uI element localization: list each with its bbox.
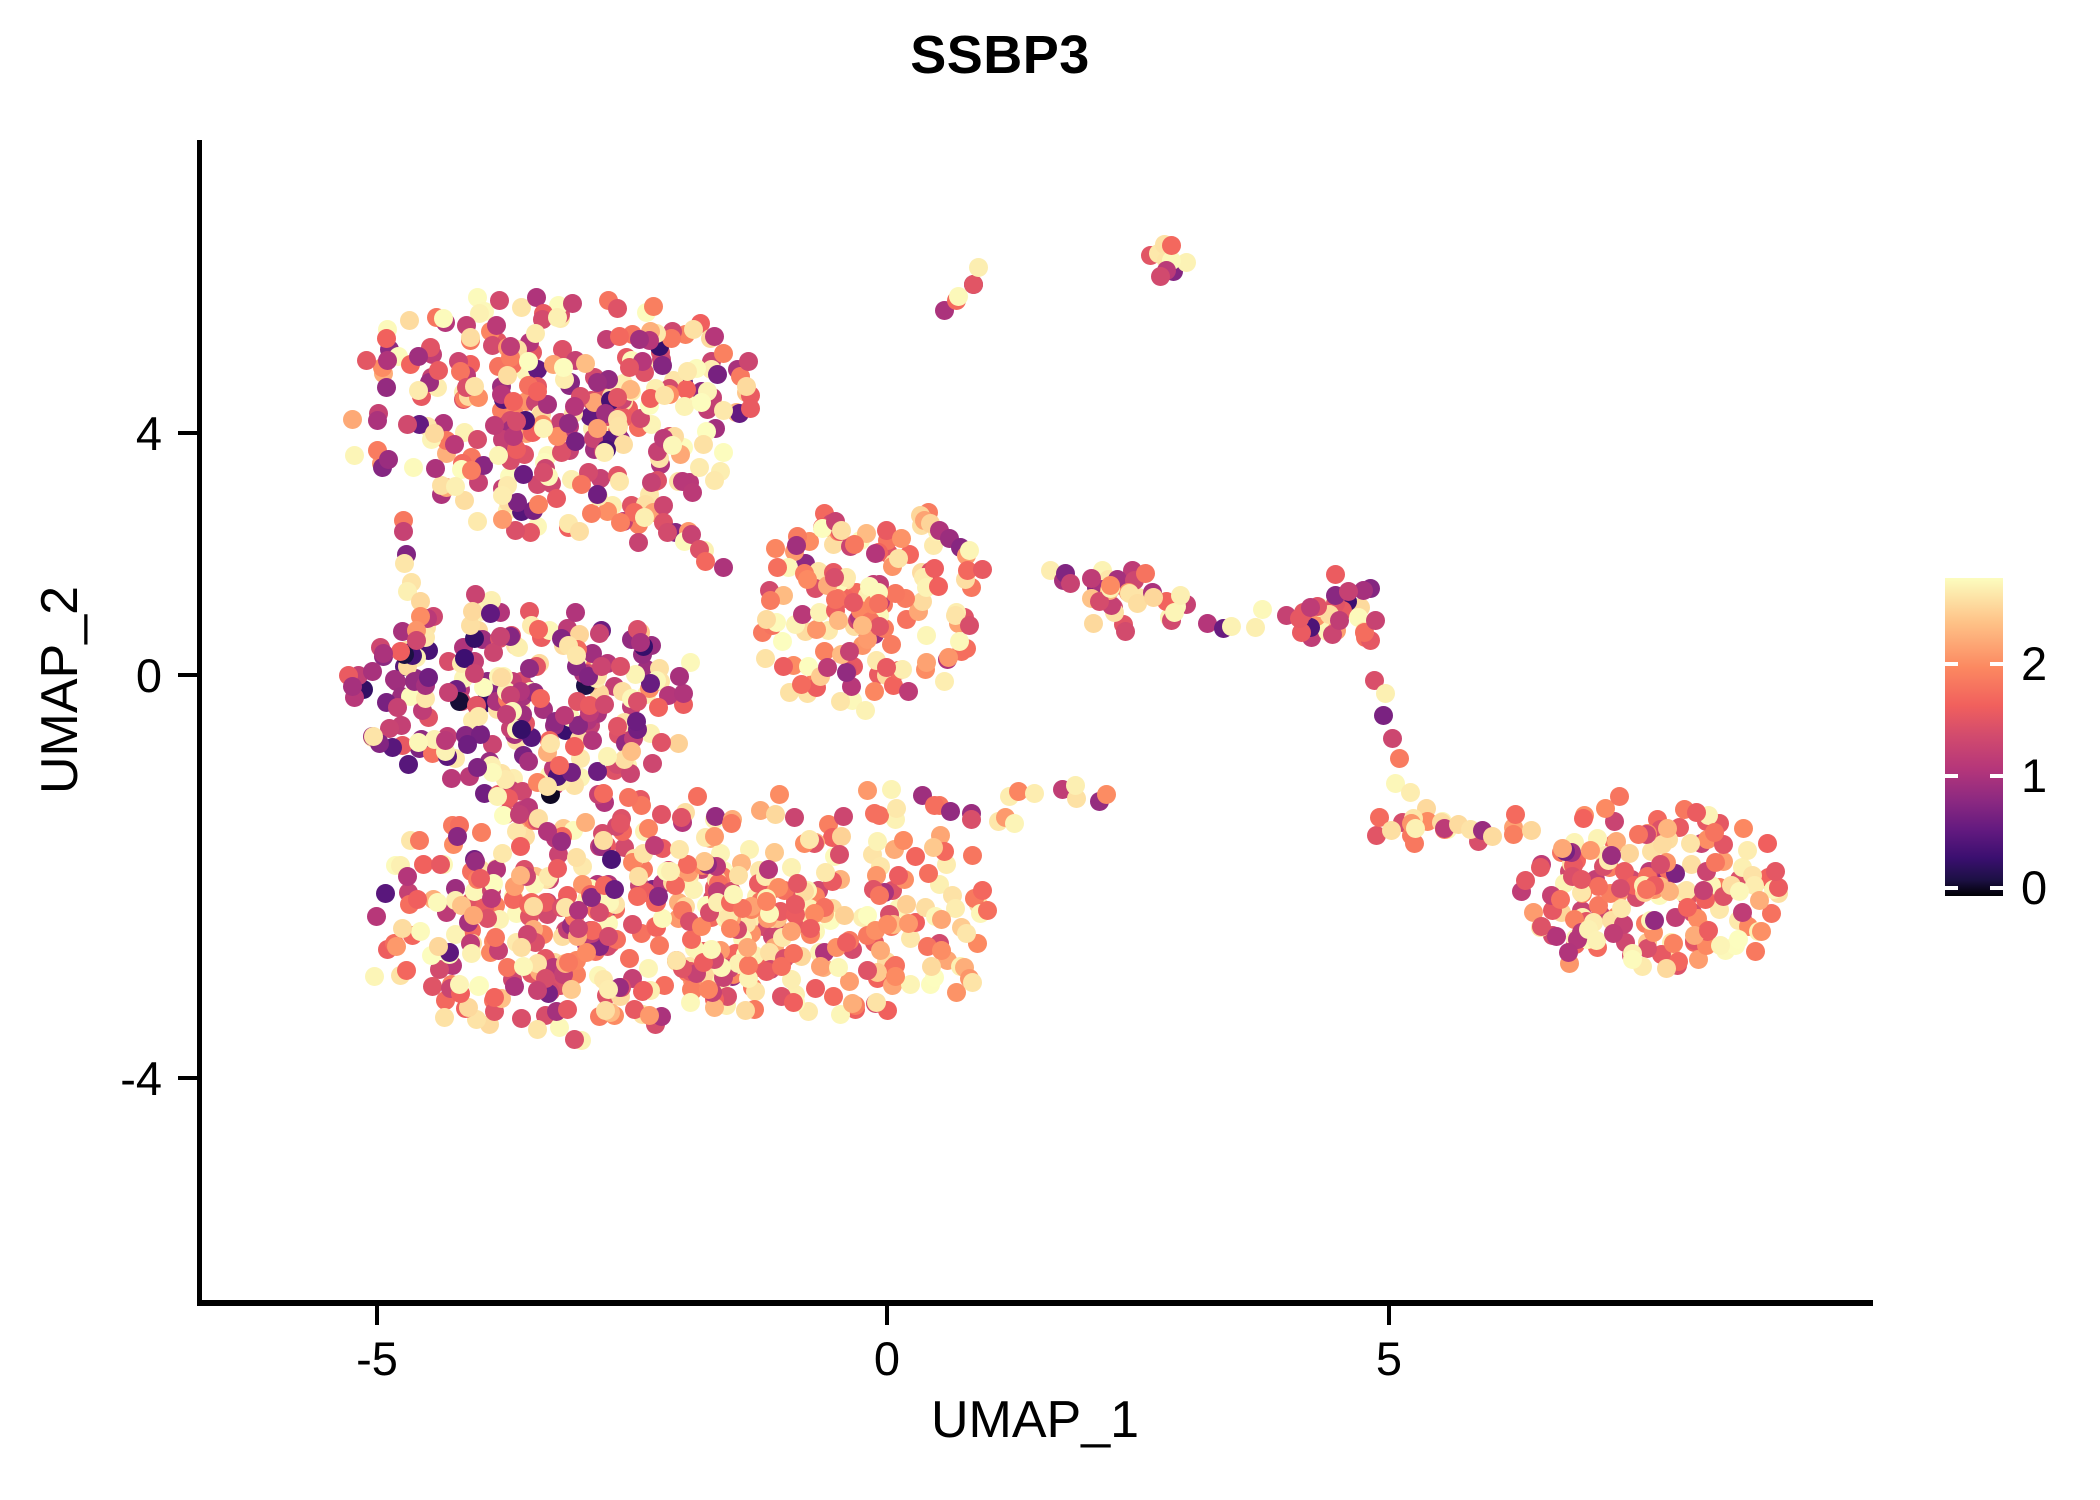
x-tick-mark bbox=[375, 1306, 379, 1325]
colorbar-tick-mark bbox=[1945, 774, 1958, 778]
colorbar-tick-mark bbox=[1990, 774, 2003, 778]
y-tick-mark bbox=[178, 673, 197, 677]
colorbar-tick-label: 0 bbox=[2021, 860, 2047, 915]
x-axis-line bbox=[197, 1300, 1873, 1306]
x-tick-mark bbox=[885, 1306, 889, 1325]
colorbar-gradient bbox=[1945, 578, 2003, 896]
plot-panel bbox=[197, 140, 1873, 1303]
y-tick-mark bbox=[178, 1076, 197, 1080]
colorbar-tick-mark bbox=[1990, 886, 2003, 890]
colorbar-tick-mark bbox=[1945, 886, 1958, 890]
y-tick-label: -4 bbox=[0, 1051, 162, 1106]
colorbar-tick-mark bbox=[1990, 662, 2003, 666]
x-tick-mark bbox=[1387, 1306, 1391, 1325]
x-tick-label: -5 bbox=[297, 1331, 457, 1386]
x-axis-label: UMAP_1 bbox=[197, 1390, 1873, 1450]
colorbar-tick-label: 1 bbox=[2021, 748, 2047, 803]
y-tick-mark bbox=[178, 431, 197, 435]
page-title: SSBP3 bbox=[0, 24, 2000, 86]
colorbar-tick-mark bbox=[1945, 662, 1958, 666]
umap-feature-plot: SSBP3 -5 0 5 4 0 -4 UMAP_1 UMAP_2 2 1 0 bbox=[0, 0, 2100, 1500]
y-axis-label: UMAP_2 bbox=[30, 340, 90, 1040]
x-tick-label: 0 bbox=[807, 1331, 967, 1386]
y-axis-line bbox=[197, 140, 202, 1306]
colorbar-legend: 2 1 0 bbox=[1945, 578, 2100, 908]
colorbar-tick-label: 2 bbox=[2021, 636, 2047, 691]
x-tick-label: 5 bbox=[1309, 1331, 1469, 1386]
